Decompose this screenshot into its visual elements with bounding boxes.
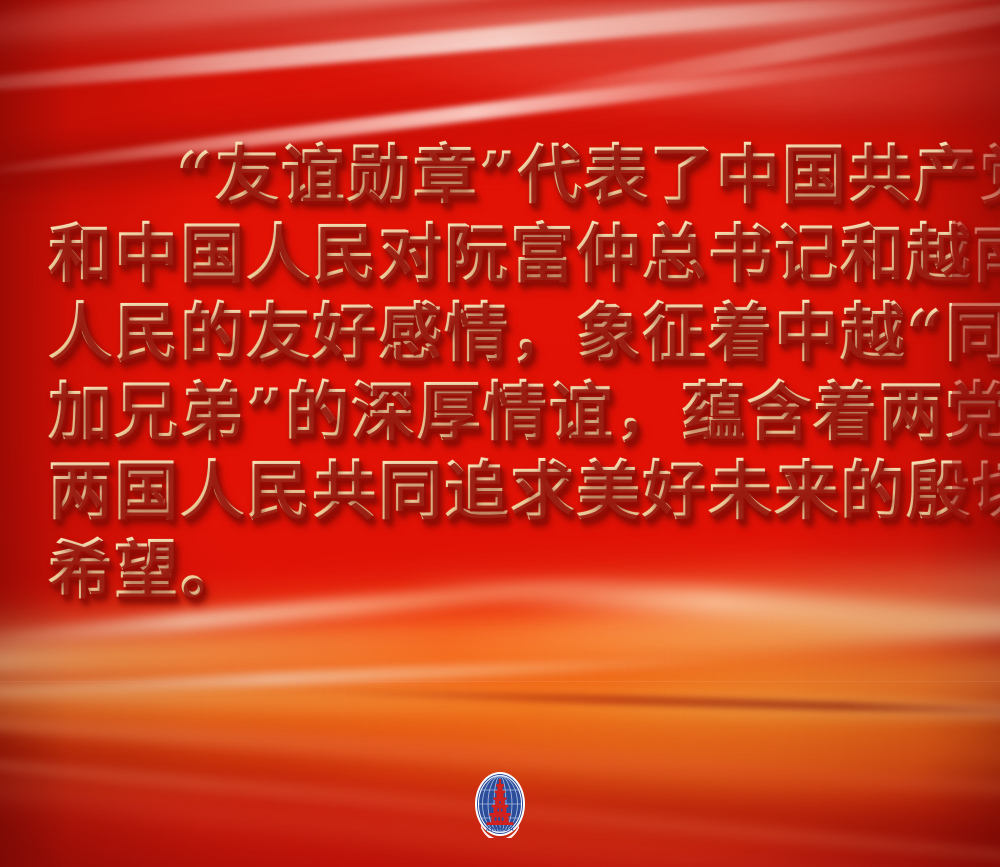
xinhua-logo: XINHUA <box>472 770 528 838</box>
poster-canvas: “友谊勋章”代表了中国共产党 和中国人民对阮富仲总书记和越南 人民的友好感情，象… <box>0 0 1000 867</box>
quote-line-6: 希望。 <box>48 531 952 610</box>
quote-line-3: 人民的友好感情，象征着中越“同志 <box>48 294 952 373</box>
quote-text-block: “友谊勋章”代表了中国共产党 和中国人民对阮富仲总书记和越南 人民的友好感情，象… <box>0 136 1000 610</box>
quote-line-2: 和中国人民对阮富仲总书记和越南 <box>48 215 952 294</box>
quote-line-4: 加兄弟”的深厚情谊，蕴含着两党和 <box>48 373 952 452</box>
quote-line-1: “友谊勋章”代表了中国共产党 <box>48 136 952 215</box>
xinhua-wordmark: XINHUA <box>485 826 514 833</box>
quote-line-5: 两国人民共同追求美好未来的殷切 <box>48 452 952 531</box>
